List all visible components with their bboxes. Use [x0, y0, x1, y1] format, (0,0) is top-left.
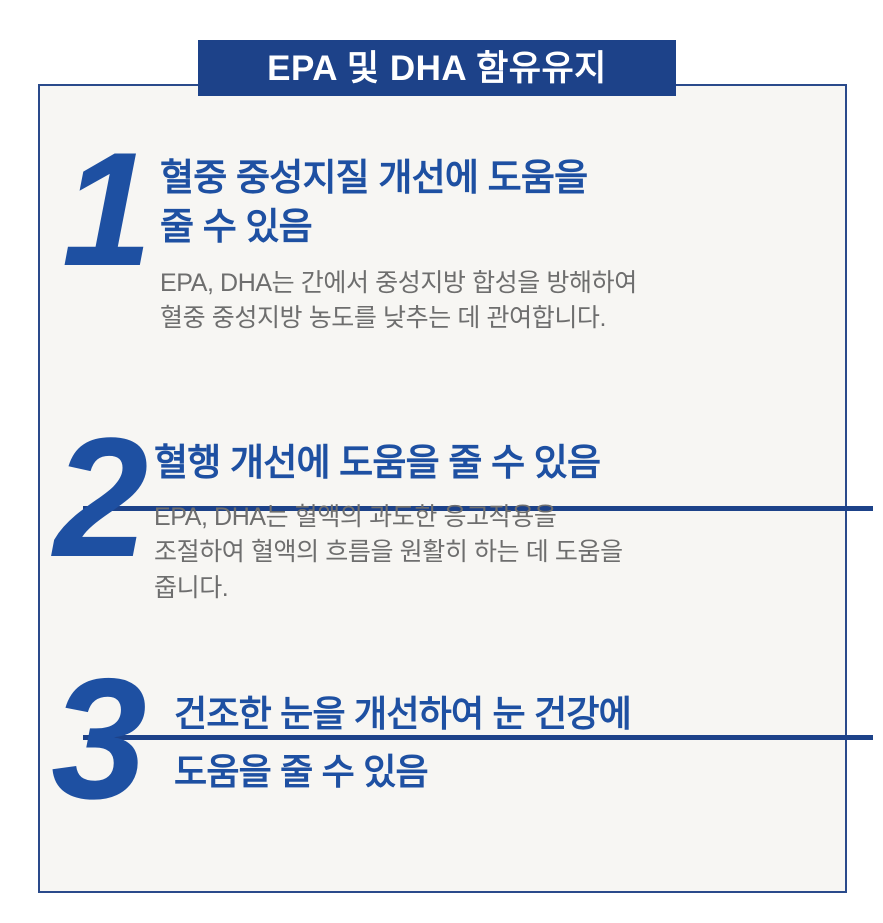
benefit-item-3: 3 건조한 눈을 개선하여 눈 건강에 도움을 줄 수 있음 — [38, 669, 847, 816]
benefit-row: 1 혈중 중성지질 개선에 도움을 줄 수 있음 EPA, DHA는 간에서 중… — [38, 144, 847, 337]
benefit-title-2: 혈행 개선에 도움을 줄 수 있음 — [154, 439, 847, 488]
benefit-title-3: 건조한 눈을 개선하여 눈 건강에 도움을 줄 수 있음 — [174, 685, 847, 802]
benefit-text-block: 혈중 중성지질 개선에 도움을 줄 수 있음 EPA, DHA는 간에서 중성지… — [160, 144, 847, 337]
benefit-row: 2 혈행 개선에 도움을 줄 수 있음 EPA, DHA는 혈액의 과도한 응고… — [38, 429, 847, 606]
benefit-title-1: 혈중 중성지질 개선에 도움을 줄 수 있음 — [160, 154, 847, 252]
benefit-row: 3 건조한 눈을 개선하여 눈 건강에 도움을 줄 수 있음 — [38, 669, 847, 816]
banner-title: EPA 및 DHA 함유유지 — [267, 51, 607, 86]
header-banner: EPA 및 DHA 함유유지 — [198, 40, 676, 96]
benefit-item-1: 1 혈중 중성지질 개선에 도움을 줄 수 있음 EPA, DHA는 간에서 중… — [38, 144, 847, 337]
benefit-list: 1 혈중 중성지질 개선에 도움을 줄 수 있음 EPA, DHA는 간에서 중… — [38, 84, 847, 893]
benefit-number-3: 3 — [44, 669, 152, 810]
benefit-item-2: 2 혈행 개선에 도움을 줄 수 있음 EPA, DHA는 혈액의 과도한 응고… — [38, 429, 847, 606]
benefit-body-2: EPA, DHA는 혈액의 과도한 응고작용을 조절하여 혈액의 흐름을 원활히… — [154, 500, 847, 607]
benefit-body-1: EPA, DHA는 간에서 중성지방 합성을 방해하여 혈중 중성지방 농도를 … — [160, 266, 847, 337]
benefit-number-2: 2 — [46, 429, 154, 568]
benefit-text-block: 혈행 개선에 도움을 줄 수 있음 EPA, DHA는 혈액의 과도한 응고작용… — [154, 429, 847, 606]
benefit-number-1: 1 — [52, 144, 160, 277]
benefit-text-block: 건조한 눈을 개선하여 눈 건강에 도움을 줄 수 있음 — [152, 669, 847, 816]
